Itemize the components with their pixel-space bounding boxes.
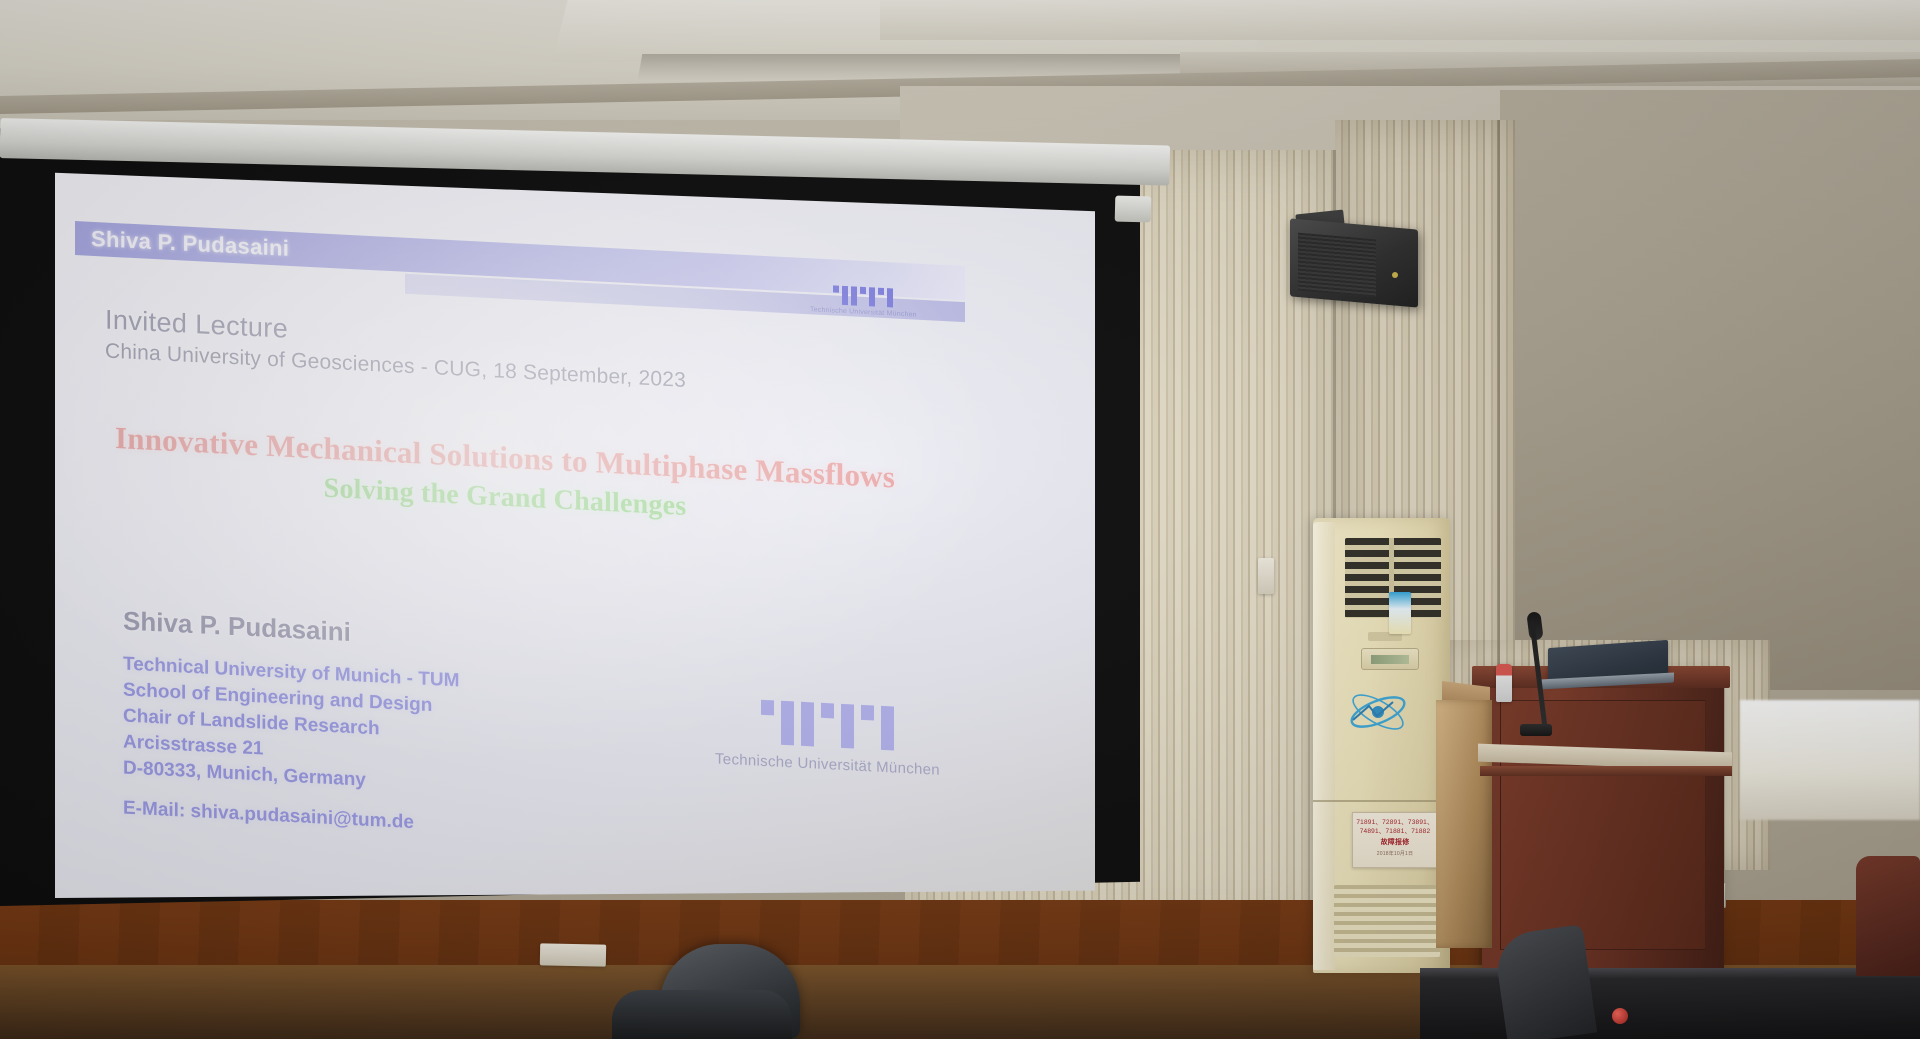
tum-wordmark-large-icon [761, 700, 894, 751]
foreground-indicator-light [1612, 1008, 1628, 1024]
air-conditioner-service-sticker: 71891、72891、73891、 74891、71881、71882 故障报… [1352, 812, 1438, 868]
podium-side-panel [1436, 700, 1492, 948]
screen-control-switch[interactable] [540, 943, 606, 966]
foreground-chair-back [612, 990, 792, 1039]
water-bottle [1496, 664, 1512, 702]
tum-logo-small: Technische Universität München [810, 284, 917, 318]
tum-tagline-large: Technische Universität München [715, 750, 940, 778]
air-conditioner-logo-icon [1347, 690, 1409, 734]
air-conditioner-energy-label [1389, 592, 1411, 634]
slide-subkicker: China University of Geosciences - CUG, 1… [105, 340, 686, 393]
sticker-line: 74891、71881、71882 [1356, 827, 1434, 836]
loudspeaker-grille [1298, 233, 1376, 298]
presenter [1520, 520, 1780, 850]
wall-sensor-plate [1258, 558, 1274, 594]
air-conditioner-bottom-grille [1334, 885, 1440, 957]
projection-screen-roller-cap [1115, 196, 1152, 223]
slide-affiliation-block: Technical University of Munich - TUM Sch… [123, 651, 459, 798]
foreground-chair-right [1856, 856, 1920, 976]
slide-banner-name: Shiva P. Pudasaini [91, 226, 289, 262]
projection-screen: Shiva P. Pudasaini Technische Universitä… [55, 158, 1095, 898]
sticker-line-bold: 故障报修 [1356, 838, 1434, 847]
slide-author-name: Shiva P. Pudasaini [123, 605, 351, 648]
tum-wordmark-small-icon [833, 285, 893, 307]
slide-email: E-Mail: shiva.pudasaini@tum.de [123, 797, 414, 834]
presentation-slide: Shiva P. Pudasaini Technische Universitä… [55, 158, 1095, 898]
lecture-hall-photo: Shiva P. Pudasaini Technische Universitä… [0, 0, 1920, 1039]
slide-kicker: Invited Lecture [105, 305, 288, 345]
air-conditioner-panel-seam [1313, 800, 1450, 802]
foreground-table-edge [1420, 968, 1920, 978]
sticker-date: 2018年10月1日 [1356, 850, 1434, 859]
foreground-table [1420, 968, 1920, 1039]
sticker-line: 71891、72891、73891、 [1356, 818, 1434, 827]
air-conditioner-side-panel [1313, 522, 1335, 970]
tum-logo-large: Technische Universität München [715, 697, 940, 778]
loudspeaker-led-icon [1392, 272, 1398, 278]
air-conditioner-display-panel[interactable] [1361, 648, 1419, 670]
ceiling-recess-panel-secondary [880, 0, 1920, 40]
